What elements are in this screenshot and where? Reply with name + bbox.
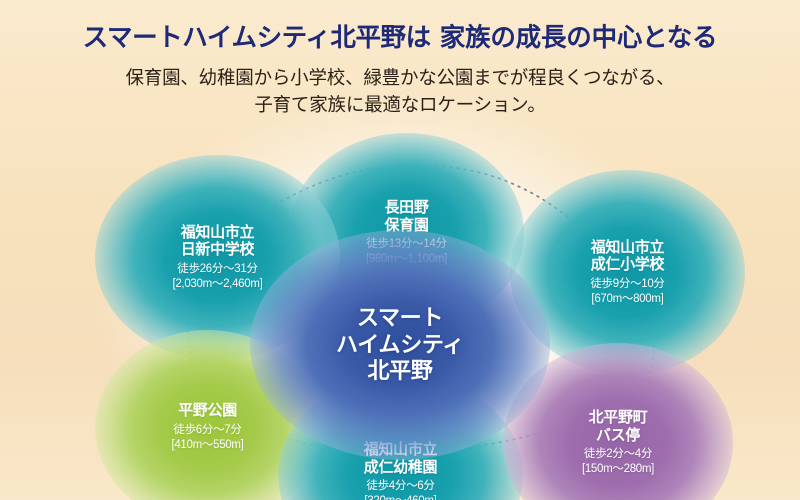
node-bus-stop-title-line-2: バス停 bbox=[596, 427, 640, 444]
headline-part-1: スマートハイムシティ北平野は bbox=[83, 24, 431, 52]
node-park-title: 平野公園 bbox=[178, 402, 237, 420]
node-kindergarten-distance: [320m〜460m] bbox=[364, 494, 436, 500]
header-block: スマートハイムシティ北平野は家族の成長の中心となる 保育園、幼稚園から小学校、緑… bbox=[0, 0, 800, 119]
node-junior-high-title: 福知山市立 日新中学校 bbox=[181, 224, 255, 259]
node-bus-stop-walk-time: 徒歩2分〜4分 bbox=[584, 447, 652, 462]
node-park-walk-time: 徒歩6分〜7分 bbox=[173, 423, 241, 438]
node-junior-high-walk-time: 徒歩26分〜31分 bbox=[177, 262, 257, 277]
node-elementary-title-line-2: 成仁小学校 bbox=[591, 256, 665, 273]
node-elementary-title: 福知山市立 成仁小学校 bbox=[591, 239, 665, 274]
infographic-canvas: スマートハイムシティ北平野は家族の成長の中心となる 保育園、幼稚園から小学校、緑… bbox=[0, 0, 800, 500]
subtitle-line-1: 保育園、幼稚園から小学校、緑豊かな公園までが程良くつながる、 bbox=[0, 65, 800, 92]
subtitle-line-2: 子育て家族に最適なロケーション。 bbox=[0, 92, 800, 119]
node-elementary-walk-time: 徒歩9分〜10分 bbox=[590, 277, 664, 292]
node-bus-stop-title: 北平野町 バス停 bbox=[589, 409, 648, 444]
node-elementary-title-line-1: 福知山市立 bbox=[591, 239, 665, 256]
node-kindergarten-title-line-2: 成仁幼稚園 bbox=[364, 459, 438, 476]
node-center-title: スマート ハイムシティ 北平野 bbox=[336, 305, 464, 385]
node-center-title-line-3: 北平野 bbox=[367, 358, 432, 383]
page-title: スマートハイムシティ北平野は家族の成長の中心となる bbox=[0, 24, 800, 53]
node-junior-high-title-line-1: 福知山市立 bbox=[181, 224, 255, 241]
page-subtitle: 保育園、幼稚園から小学校、緑豊かな公園までが程良くつながる、 子育て家族に最適な… bbox=[0, 65, 800, 119]
node-junior-high-title-line-2: 日新中学校 bbox=[181, 241, 255, 258]
node-center-title-line-2: ハイムシティ bbox=[336, 332, 464, 357]
node-kindergarten-walk-time: 徒歩4分〜6分 bbox=[366, 479, 434, 494]
node-junior-high-distance: [2,030m〜2,460m] bbox=[172, 277, 262, 292]
node-elementary-distance: [670m〜800m] bbox=[591, 292, 663, 307]
node-bus-stop-distance: [150m〜280m] bbox=[582, 462, 654, 477]
node-center-title-line-1: スマート bbox=[357, 305, 443, 330]
node-park-distance: [410m〜550m] bbox=[171, 438, 243, 453]
node-park-title-line-1: 平野公園 bbox=[178, 402, 237, 419]
node-center-development[interactable]: スマート ハイムシティ 北平野 bbox=[250, 230, 550, 460]
node-bus-stop-title-line-1: 北平野町 bbox=[589, 409, 648, 426]
node-nursery-title-line-1: 長田野 bbox=[384, 199, 428, 216]
headline-part-2: 家族の成長の中心となる bbox=[440, 24, 718, 52]
